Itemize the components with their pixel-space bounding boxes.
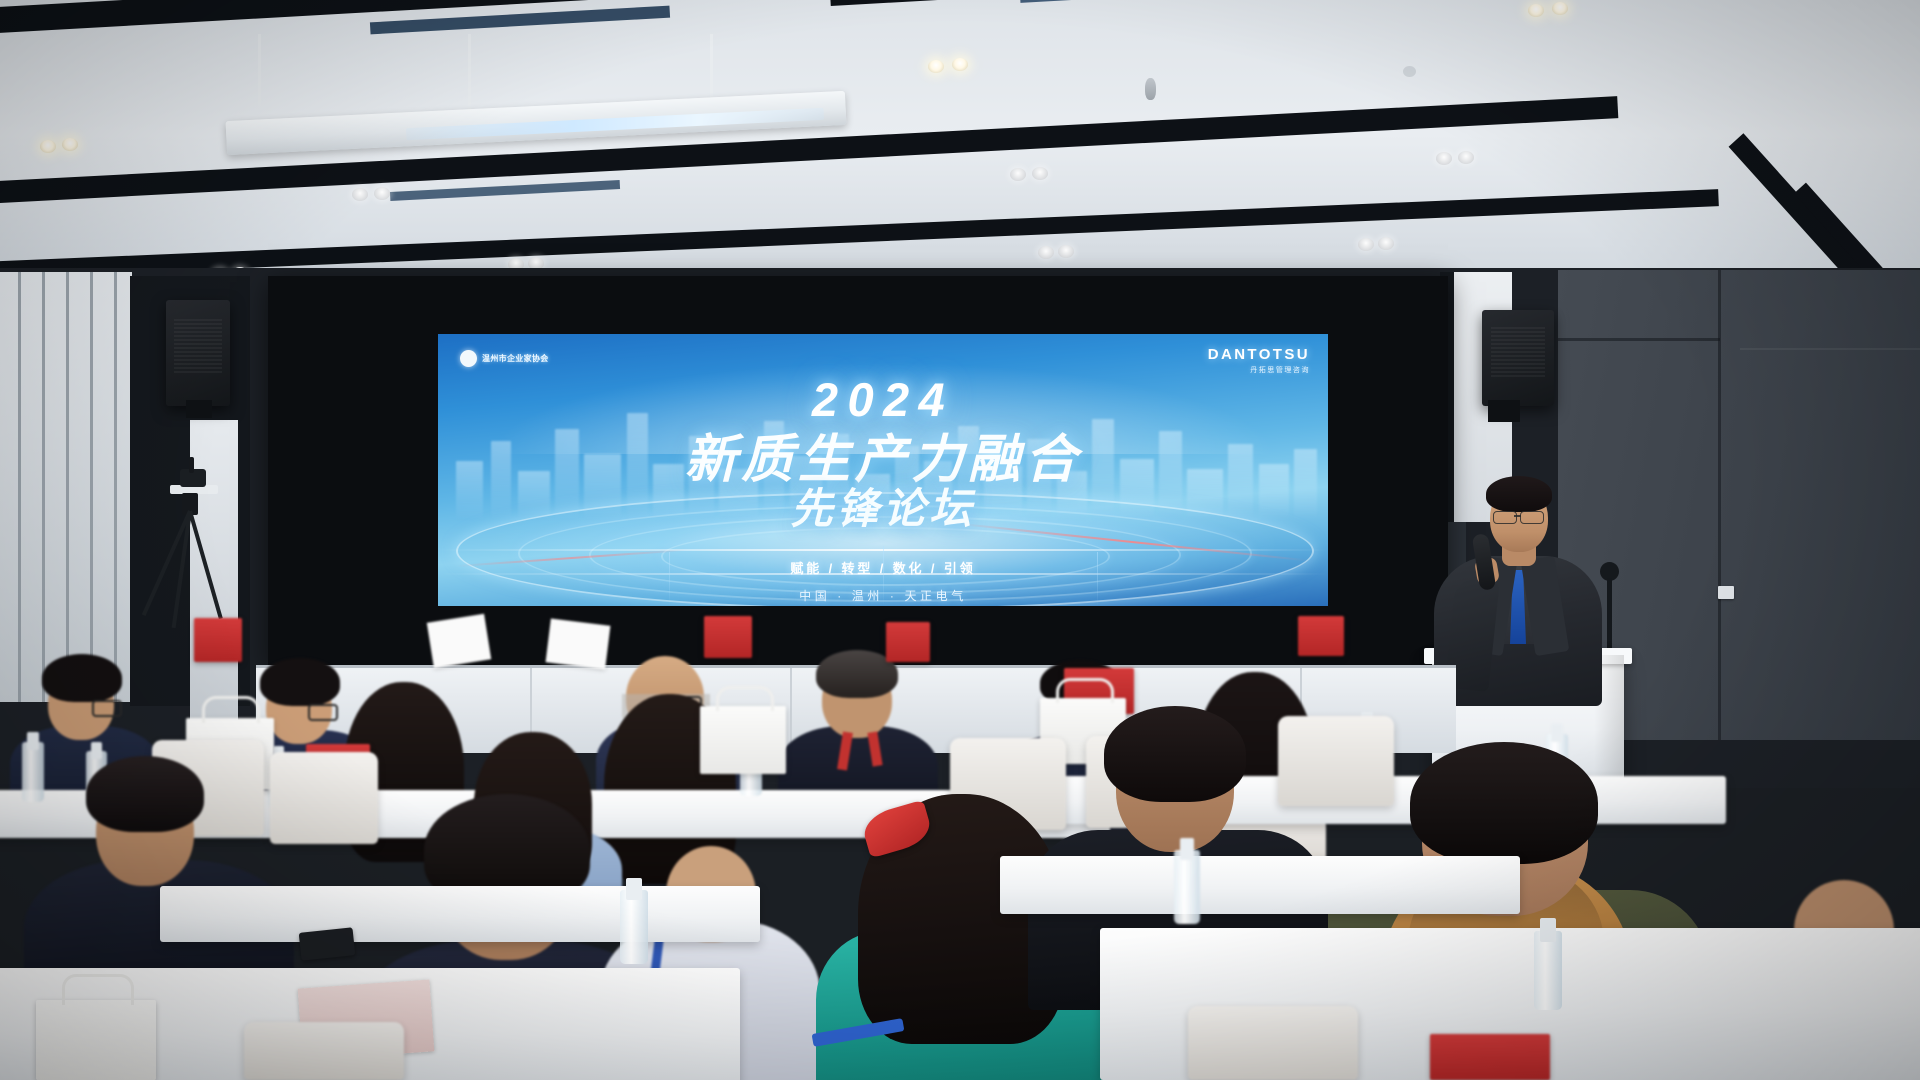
attendee-hair (86, 756, 204, 832)
sprinkler-icon (1403, 66, 1416, 77)
tote-handle (62, 974, 134, 1005)
document-folder (1298, 616, 1344, 656)
right-wall-panel-line (1740, 348, 1920, 350)
water-bottle (620, 878, 648, 964)
conference-photo-scene: 温州市企业家协会 DANTOTSU 丹拓思管理咨询 2024 新质生产力融合 先… (0, 0, 1920, 1080)
ceiling-reflective-insert-1 (370, 6, 670, 35)
spotlight-icon (1552, 2, 1568, 15)
window-mullion (114, 272, 117, 702)
ceiling-reflective-insert-2 (1020, 0, 1230, 3)
spotlight-icon (1058, 245, 1074, 258)
right-speaker-bracket (1488, 400, 1520, 422)
water-bottle (1534, 918, 1562, 1010)
screen-logo-left-text: 温州市企业家协会 (482, 353, 549, 364)
glasses-icon (308, 704, 338, 721)
phone (299, 927, 356, 960)
window-mullion (42, 272, 45, 702)
glasses-bridge-icon (1514, 515, 1521, 517)
spotlight-icon (374, 187, 390, 200)
spotlight-icon (1528, 4, 1544, 17)
spotlight-icon (928, 60, 944, 73)
chair (244, 1022, 404, 1080)
tote-bag (36, 1000, 156, 1080)
screen-location: 中国 · 温州 · 天正电气 (438, 587, 1328, 604)
pendant-light-fixture (210, 34, 830, 164)
smoke-detector-icon (1145, 78, 1156, 100)
presenter-hair (1486, 476, 1552, 512)
document-folder (886, 622, 930, 662)
tote-bag (700, 706, 786, 774)
spotlight-icon (1038, 246, 1054, 259)
spotlight-icon (1378, 237, 1394, 250)
paper-sheet (546, 619, 611, 670)
tote-handle (202, 696, 260, 723)
document-folder (704, 616, 752, 658)
wall-outlet (1718, 586, 1734, 599)
attendee-hair (1104, 706, 1246, 802)
window-mullion (18, 272, 21, 702)
left-wall-speaker (166, 300, 230, 406)
document-folder (194, 618, 242, 662)
right-wall-speaker (1482, 310, 1554, 406)
chair (1188, 1006, 1358, 1080)
document-folder (1430, 1034, 1550, 1080)
spotlight-icon (40, 140, 56, 153)
table-row-mid-right (1000, 856, 1520, 914)
spotlight-icon (1010, 168, 1026, 181)
camera-tripod (160, 455, 250, 625)
glasses-icon (92, 700, 122, 717)
screen-logo-left: 温州市企业家协会 (460, 350, 549, 367)
circle-logo-icon (460, 350, 477, 367)
led-screen: 温州市企业家协会 DANTOTSU 丹拓思管理咨询 2024 新质生产力融合 先… (438, 334, 1328, 606)
spotlight-icon (1358, 238, 1374, 251)
window-mullion (66, 272, 69, 702)
ceiling-reflective-insert-3 (390, 180, 620, 201)
screen-logo-right-brand: DANTOTSU (1208, 346, 1310, 363)
screen-sub-title: 先锋论坛 (438, 475, 1328, 536)
pendant-rod (258, 34, 261, 106)
water-bottle (1174, 838, 1200, 924)
spotlight-icon (952, 58, 968, 71)
spotlight-icon (1032, 167, 1048, 180)
window-mullion (90, 272, 93, 702)
ceiling-band-1b (829, 0, 1920, 6)
left-speaker-bracket (186, 400, 212, 418)
right-wall-seam (1558, 338, 1720, 341)
attendee-hair (260, 658, 340, 706)
ceiling (0, 0, 1920, 300)
screen-logo-right: DANTOTSU 丹拓思管理咨询 (1208, 346, 1310, 375)
tote-handle (716, 686, 774, 711)
attendee-hair (1410, 742, 1598, 864)
paper-sheet (427, 614, 491, 669)
glasses-icon (1493, 511, 1517, 524)
tripod-leg (188, 510, 223, 619)
spotlight-icon (1436, 152, 1452, 165)
spotlight-icon (1458, 151, 1474, 164)
attendee-hair (42, 654, 122, 702)
table-row-mid-left (160, 886, 760, 942)
glasses-icon (1520, 511, 1544, 524)
spotlight-icon (352, 188, 368, 201)
pendant-rod (468, 34, 471, 112)
tripod-head (189, 457, 194, 473)
ceiling-band-3 (0, 189, 1719, 279)
screen-keywords: 赋能 / 转型 / 数化 / 引领 (438, 558, 1328, 577)
spotlight-icon (62, 138, 78, 151)
